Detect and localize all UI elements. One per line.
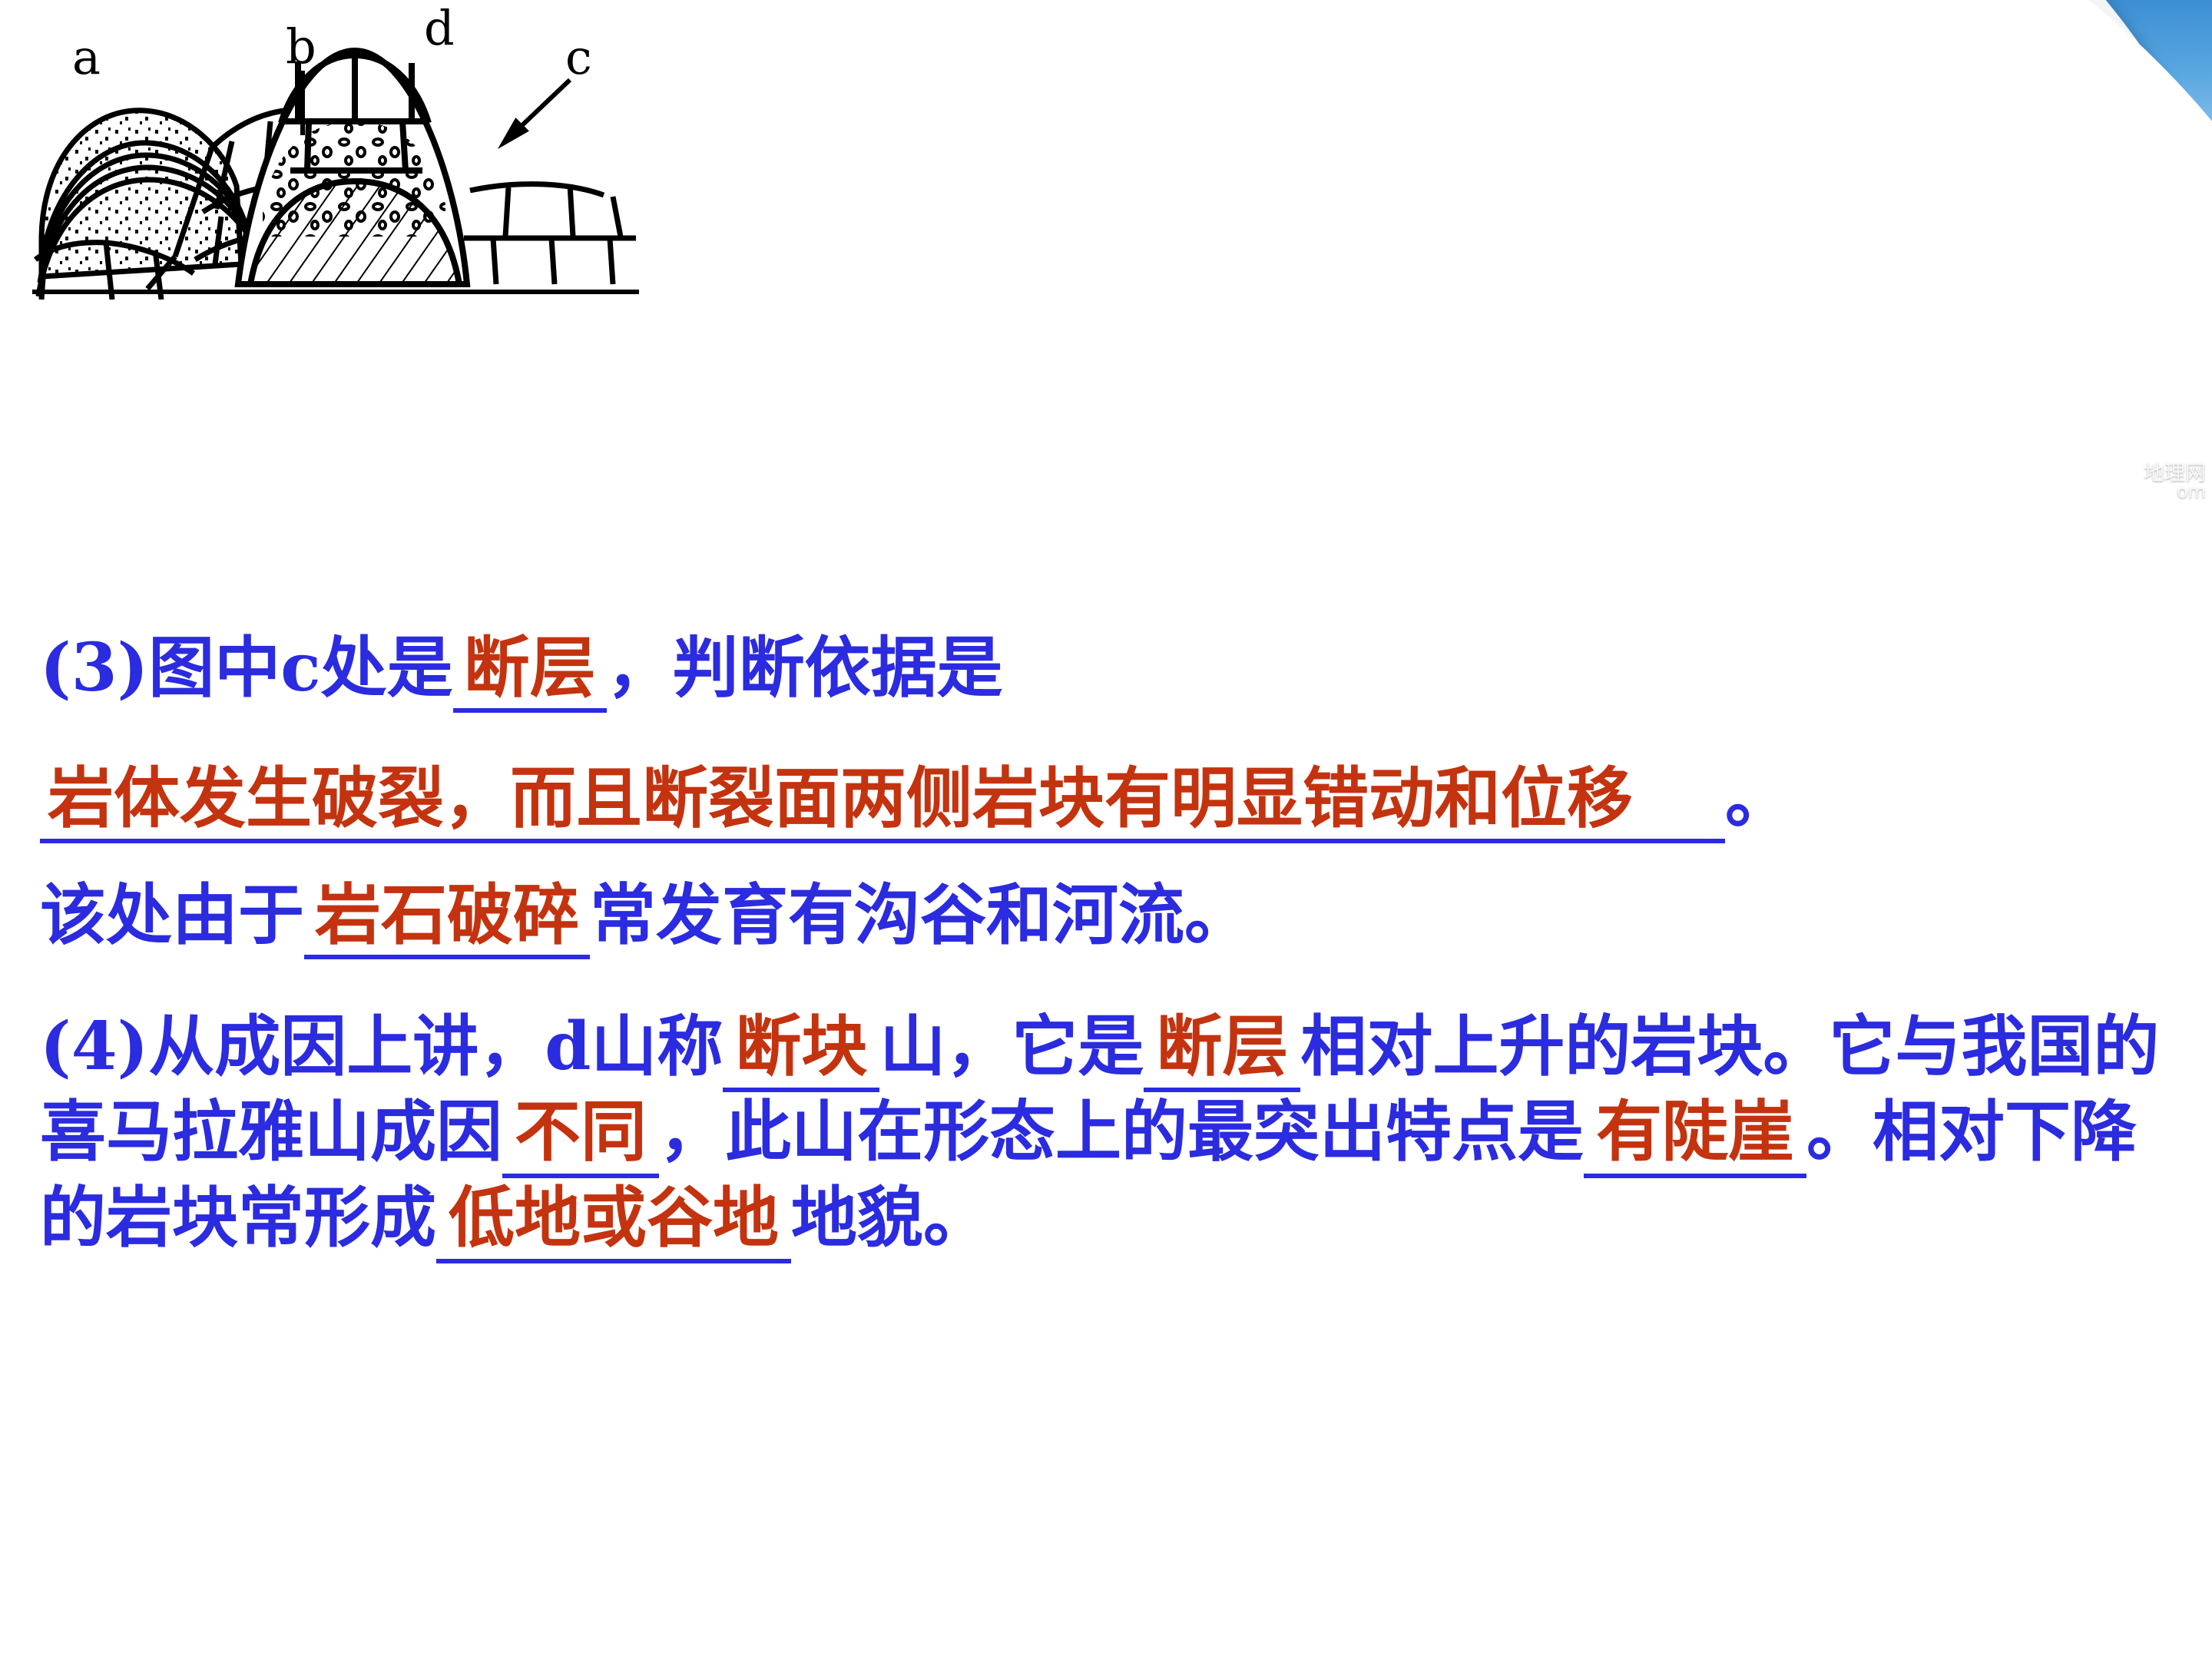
question-3-line-2: 岩体发生破裂，而且断裂面两侧岩块有明显错动和位移。 xyxy=(40,760,2183,843)
anticline-block-a xyxy=(38,111,267,296)
q4-text-7: 地貌。 xyxy=(791,1179,989,1257)
geological-cross-section-diagram: a b c d xyxy=(32,6,639,300)
q3-text-1: (3)图中 xyxy=(40,629,280,707)
curved-white-sweep xyxy=(1183,0,2212,507)
q4-text-3: 山，它是 xyxy=(879,1008,1144,1085)
q3-text-3: ，判断依据是 xyxy=(607,629,1003,707)
q3-answer-evidence[interactable]: 岩体发生破裂，而且断裂面两侧岩块有明显错动和位移 xyxy=(40,760,1725,843)
q4-answer-different[interactable]: 不同 xyxy=(502,1092,659,1177)
q4-answer-fault-block[interactable]: 断块 xyxy=(723,1007,879,1092)
q4-text-1: (4)从成因上讲， xyxy=(40,1008,545,1085)
q3-text-4: 该处由于 xyxy=(40,876,304,954)
cross-section-svg: a b c d xyxy=(32,6,639,300)
header-decoration: 地理网 om xyxy=(1183,0,2212,507)
figure-label-c: c xyxy=(565,29,592,85)
q4-latin-d: d xyxy=(545,1008,591,1085)
q4-text-5: ，此山在形态上的最突出特点是 xyxy=(659,1093,1584,1171)
q3-period-1: 。 xyxy=(1725,760,1791,837)
q4-text-2: 山称 xyxy=(591,1008,723,1085)
downthrown-fault-blocks xyxy=(464,184,636,284)
question-4-paragraph: (4)从成因上讲，d山称断块山，它是断层相对上升的岩块。它与我国的喜马拉雅山成因… xyxy=(40,1007,2183,1263)
question-3-line-1: (3)图中c处是断层，判断依据是 xyxy=(40,630,2183,713)
figure-label-b: b xyxy=(286,18,316,75)
q4-answer-steep-cliff[interactable]: 有陡崖 xyxy=(1584,1092,1806,1177)
q4-answer-fault[interactable]: 断层 xyxy=(1144,1007,1300,1092)
q3-answer-fault[interactable]: 断层 xyxy=(453,630,607,713)
q3-latin-c: c xyxy=(280,629,320,707)
q3-answer-broken-rock[interactable]: 岩石破碎 xyxy=(304,877,590,960)
question-text-body: (3)图中c处是断层，判断依据是 岩体发生破裂，而且断裂面两侧岩块有明显错动和位… xyxy=(40,630,2183,1263)
q3-text-5: 常发育有沟谷和河流。 xyxy=(590,876,1250,954)
figure-label-d: d xyxy=(424,6,455,56)
figure-label-a: a xyxy=(72,29,101,85)
fault-pointer-arrow xyxy=(504,80,570,143)
q4-answer-lowland-valley[interactable]: 低地或谷地 xyxy=(436,1178,791,1263)
question-3-line-3: 该处由于岩石破碎常发育有沟谷和河流。 xyxy=(40,877,2183,960)
q3-text-2: 处是 xyxy=(321,629,453,707)
